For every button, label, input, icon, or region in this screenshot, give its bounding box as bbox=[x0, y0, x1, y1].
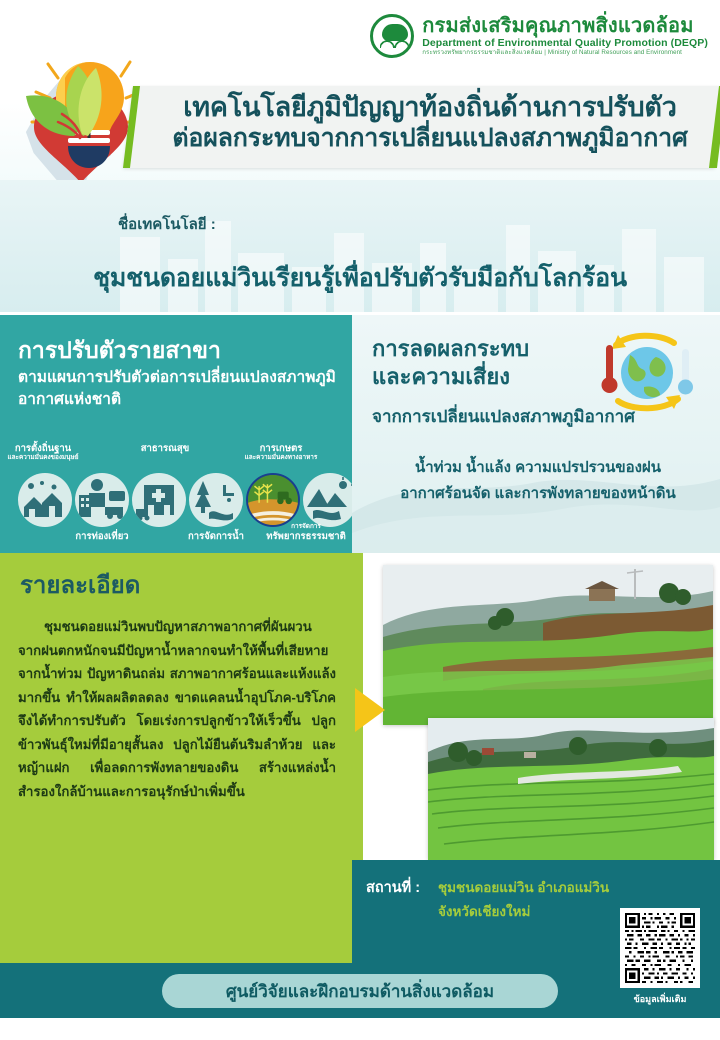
tree-water-emblem-icon bbox=[370, 14, 414, 58]
footer-organization-label: ศูนย์วิจัยและฝึกอบรมด้านสิ่งแวดล้อม bbox=[226, 978, 494, 1005]
deqp-logo-text: กรมส่งเสริมคุณภาพสิ่งแวดล้อม Department … bbox=[422, 15, 708, 56]
detail-title: รายละเอียด bbox=[20, 565, 140, 604]
sector-caption-health: สาธารณสุข bbox=[122, 443, 208, 454]
technology-name: ชุมชนดอยแม่วินเรียนรู้เพื่อปรับตัวรับมือ… bbox=[0, 258, 720, 298]
natural-resources-mountain-icon[interactable] bbox=[303, 473, 357, 527]
qr-code-icon[interactable] bbox=[620, 908, 700, 988]
deqp-logo: กรมส่งเสริมคุณภาพสิ่งแวดล้อม Department … bbox=[370, 14, 708, 58]
mitigation-panel: การลดผลกระทบ และความเสี่ยง จากการเปลี่ยน… bbox=[352, 315, 720, 553]
risk-line-1: น้ำท่วม น้ำแล้ง ความแปรปรวนของฝน bbox=[366, 455, 710, 481]
detail-panel: รายละเอียด ชุมชนดอยแม่วินพบปัญหาสภาพอากา… bbox=[0, 553, 352, 963]
page-title: เทคโนโลยีภูมิปัญญาท้องถิ่นด้านการปรับตัว… bbox=[150, 92, 710, 153]
terraced-rice-field-photo-lower bbox=[428, 718, 714, 860]
location-label: สถานที่ : bbox=[366, 876, 420, 899]
mitigation-heading: การลดผลกระทบ และความเสี่ยง bbox=[372, 335, 529, 391]
arrow-cue-icon bbox=[355, 688, 385, 732]
tourism-city-car-icon[interactable] bbox=[75, 473, 129, 527]
sector-adaptation-panel: การปรับตัวรายสาขา ตามแผนการปรับตัวต่อการ… bbox=[0, 315, 352, 553]
water-management-faucet-icon[interactable] bbox=[189, 473, 243, 527]
thermometer-hot bbox=[602, 345, 618, 393]
mitigation-heading-line1: การลดผลกระทบ bbox=[372, 335, 529, 363]
mitigation-risks: น้ำท่วม น้ำแล้ง ความแปรปรวนของฝน อากาศร้… bbox=[366, 455, 710, 506]
agriculture-farm-icon[interactable] bbox=[246, 473, 300, 527]
sector-icon-strip: การตั้งถิ่นฐาน และความมั่นคงของมนุษย์ สา… bbox=[6, 443, 352, 551]
globe-thermometer-icon bbox=[594, 331, 698, 415]
terraced-rice-field-photo-upper bbox=[383, 565, 713, 725]
public-health-hospital-icon[interactable] bbox=[132, 473, 186, 527]
title-line-1: เทคโนโลยีภูมิปัญญาท้องถิ่นด้านการปรับตัว bbox=[150, 92, 710, 124]
title-line-2: ต่อผลกระทบจากการเปลี่ยนแปลงสภาพภูมิอากาศ bbox=[150, 124, 710, 154]
org-name-en: Department of Environmental Quality Prom… bbox=[422, 38, 708, 50]
settlement-houses-icon[interactable] bbox=[18, 473, 72, 527]
mitigation-heading-line2: และความเสี่ยง bbox=[372, 363, 529, 391]
org-name-th: กรมส่งเสริมคุณภาพสิ่งแวดล้อม bbox=[422, 15, 708, 37]
thermometer-cold bbox=[678, 349, 693, 395]
sector-caption-tourism: การท่องเที่ยว bbox=[59, 531, 145, 542]
sector-caption-water: การจัดการน้ำ bbox=[173, 531, 259, 542]
sector-caption-settlement: การตั้งถิ่นฐาน และความมั่นคงของมนุษย์ bbox=[0, 443, 86, 462]
org-ministry: กระทรวงทรัพยากรธรรมชาติและสิ่งแวดล้อม | … bbox=[422, 50, 708, 57]
location-line-1: ชุมชนดอยแม่วิน อำเภอแม่วิน bbox=[438, 876, 668, 900]
sector-panel-heading: การปรับตัวรายสาขา bbox=[18, 333, 221, 369]
qr-caption: ข้อมูลเพิ่มเติม bbox=[612, 992, 708, 1006]
sector-caption-agriculture: การเกษตร และความมั่นคงทางอาหาร bbox=[238, 443, 324, 462]
risk-line-2: อากาศร้อนจัด และการพังทลายของหน้าดิน bbox=[366, 481, 710, 507]
sector-panel-subheading: ตามแผนการปรับตัวต่อการเปลี่ยนแปลงสภาพภูม… bbox=[18, 367, 340, 412]
infographic-poster: กรมส่งเสริมคุณภาพสิ่งแวดล้อม Department … bbox=[0, 0, 720, 1040]
sector-caption-natural-resources: การจัดการ ทรัพยากรธรรมชาติ bbox=[260, 523, 352, 542]
technology-label: ชื่อเทคโนโลยี : bbox=[118, 212, 216, 236]
title-banner-edge bbox=[709, 86, 720, 168]
footer-organization-pill: ศูนย์วิจัยและฝึกอบรมด้านสิ่งแวดล้อม bbox=[162, 974, 558, 1008]
detail-body-text: ชุมชนดอยแม่วินพบปัญหาสภาพอากาศที่ผันผวน … bbox=[18, 615, 336, 803]
